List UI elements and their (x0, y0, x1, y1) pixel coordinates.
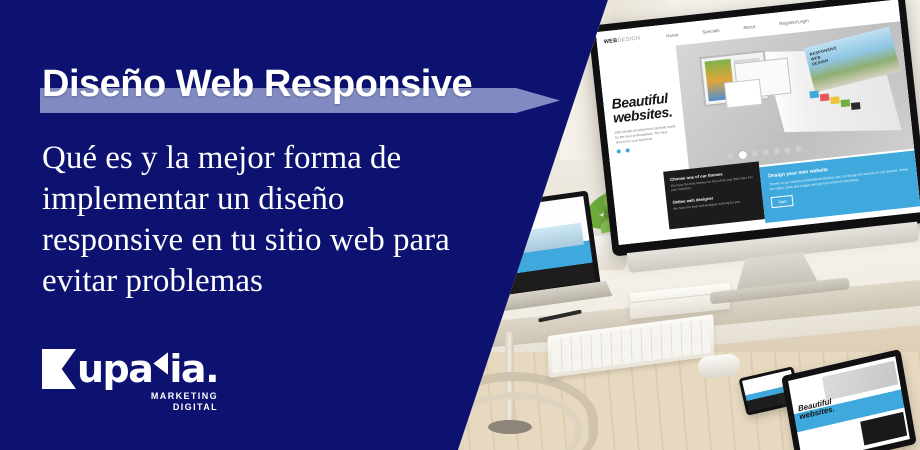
tablet-hero-heading: Beautiful websites. (797, 397, 835, 421)
tablet-hero-image (822, 361, 898, 401)
page-subtitle: Qué es y la mejor forma de implementar u… (42, 138, 492, 302)
site-nav-item-home: Home (666, 32, 679, 38)
cta-start-button[interactable]: Start (771, 195, 795, 208)
tablet-dark-panel (860, 412, 907, 446)
imac-screen: WEBDESIGN Home Specials About Register/L… (596, 0, 920, 245)
imac-bezel: WEBDESIGN Home Specials About Register/L… (588, 0, 920, 257)
logo-tagline-line2: DIGITAL (173, 402, 218, 412)
site-nav-item-specials: Specials (702, 27, 720, 34)
website-mockup: WEBDESIGN Home Specials About Register/L… (596, 0, 920, 245)
brand-logo[interactable]: upa ia. MARKETING DIGITAL (42, 349, 218, 389)
site-nav-item-about: About (743, 23, 755, 29)
logo-tagline-line1: MARKETING (151, 391, 218, 401)
site-hero-paragraph: Web design development carefully made by… (614, 124, 677, 146)
left-text-panel: Diseño Web Responsive Qué es y la mejor … (0, 0, 620, 450)
mockup-photo-text: RESPONSIVE WEB DESIGN (809, 45, 840, 66)
site-hero-heading: Beautiful websites. (611, 89, 684, 124)
logo-wordmark: upa ia. (42, 349, 218, 389)
promo-banner: WEBDESIGN Home Specials About Register/L… (0, 0, 920, 450)
logo-k-mark-icon (42, 349, 76, 389)
logo-word-part2: ia. (169, 350, 218, 388)
site-dark-panel: Choose one of our themes We have the bes… (663, 161, 765, 229)
logo-triangle-icon (153, 352, 168, 375)
mockup-tablet-icon (724, 79, 763, 109)
logo-word-part1: upa (77, 350, 152, 388)
page-title: Diseño Web Responsive (42, 63, 472, 106)
site-nav-item-register: Register/Login (779, 18, 809, 26)
imac-device: WEBDESIGN Home Specials About Register/L… (588, 0, 920, 271)
tablet-screen: Beautiful websites. (788, 356, 910, 450)
logo-tagline: MARKETING DIGITAL (42, 391, 218, 413)
